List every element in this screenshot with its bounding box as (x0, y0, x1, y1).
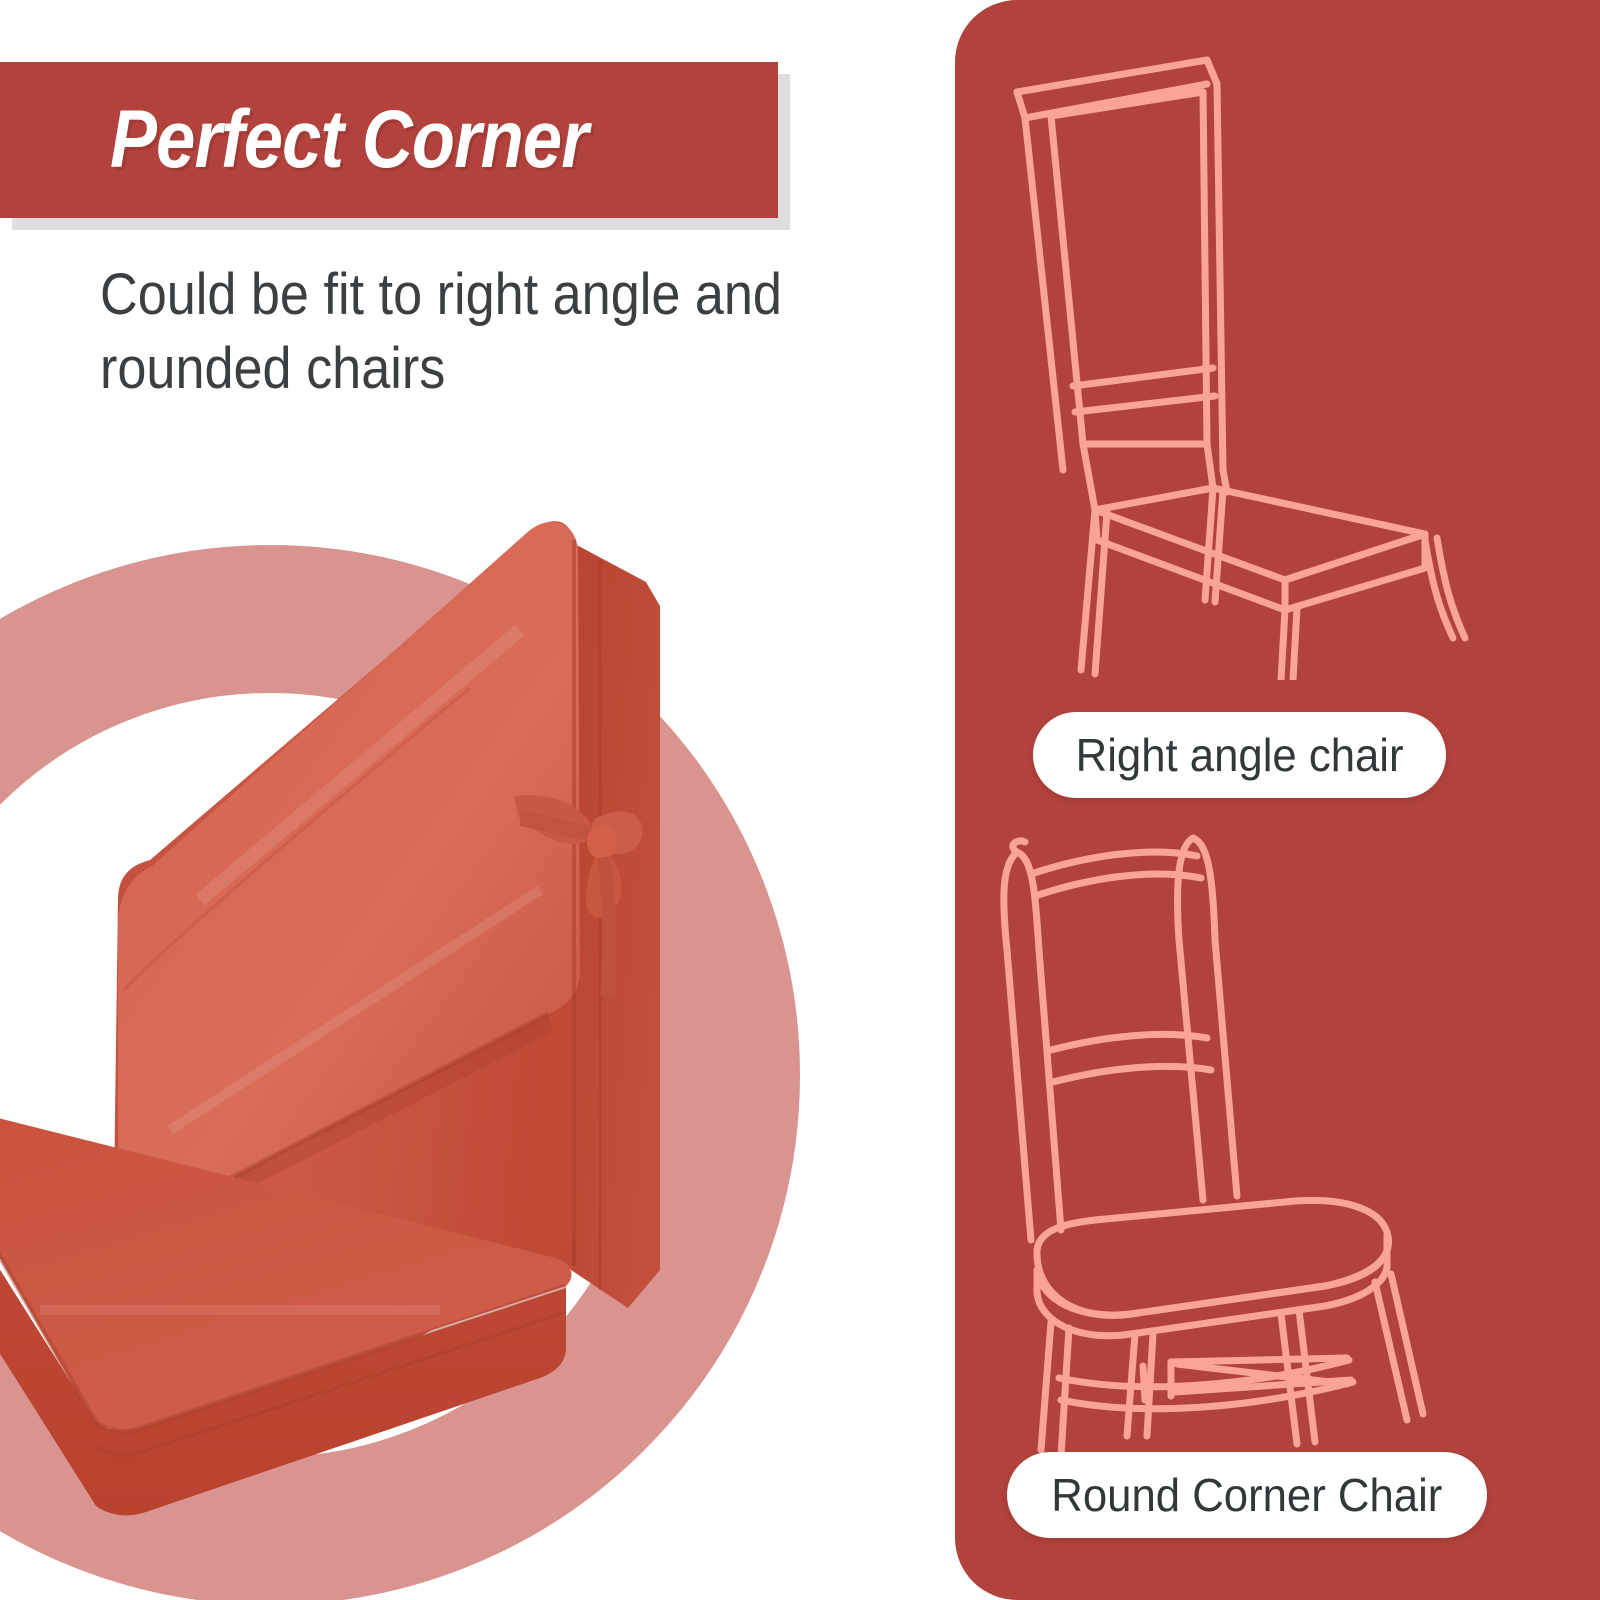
pill-label-text: Round Corner Chair (1051, 1468, 1442, 1522)
page-title: Perfect Corner (110, 93, 588, 187)
pill-label-text: Right angle chair (1076, 728, 1404, 782)
right-angle-chair-label: Right angle chair (1033, 712, 1446, 798)
title-banner-block: Perfect Corner (0, 62, 778, 218)
right-angle-chair-illustration (955, 40, 1600, 680)
chair-types-panel: Right angle chair (955, 0, 1600, 1600)
product-photo-chair-cushion (0, 430, 760, 1600)
round-corner-chair-label: Round Corner Chair (1007, 1452, 1487, 1538)
infographic-canvas: Perfect Corner Could be fit to right ang… (0, 0, 1600, 1600)
round-corner-chair-illustration (955, 800, 1600, 1460)
left-content-column: Perfect Corner Could be fit to right ang… (0, 0, 970, 1600)
subtitle-text: Could be fit to right angle and rounded … (100, 258, 874, 405)
title-banner: Perfect Corner (0, 62, 790, 230)
